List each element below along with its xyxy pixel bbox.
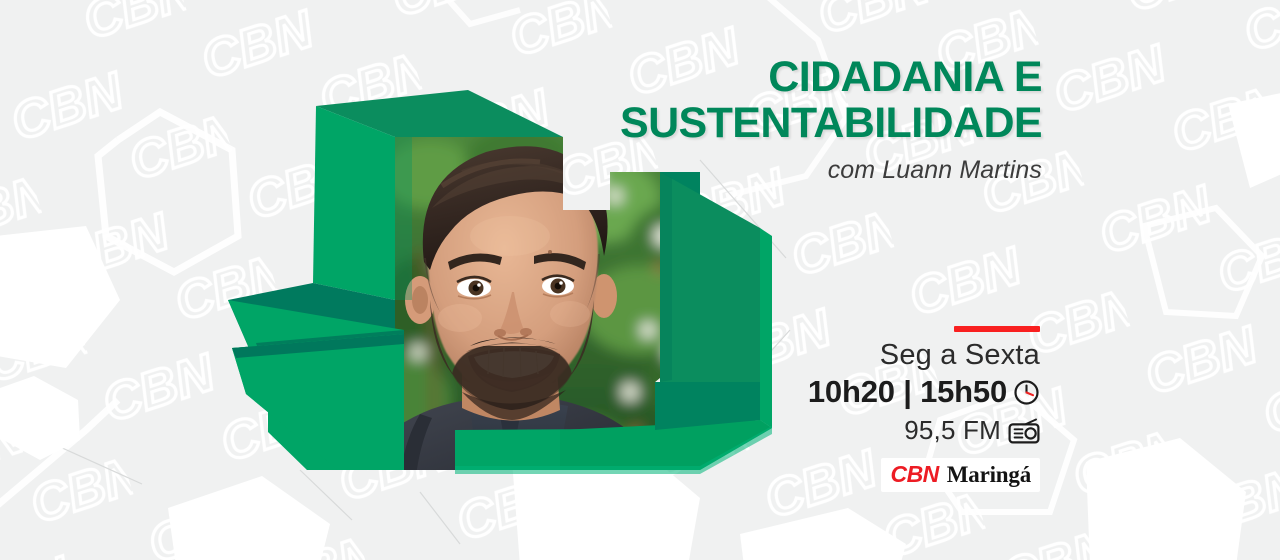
host-credit: com Luann Martins	[402, 156, 1042, 185]
broadcast-days: Seg a Sexta	[830, 340, 1040, 370]
clock-icon	[1013, 379, 1040, 406]
title-line-1: CIDADANIA E	[402, 56, 1042, 100]
frequency-row: 95,5 FM	[830, 415, 1040, 446]
cbn-brand-text: CBN	[890, 461, 938, 488]
frequency-label: 95,5 FM	[904, 415, 1001, 446]
station-logo-row: CBN Maringá	[830, 458, 1040, 492]
radio-program-banner: CBN CBN	[0, 0, 1280, 560]
program-title-block: CIDADANIA E SUSTENTABILIDADE com Luann M…	[402, 56, 1042, 185]
red-accent-rule	[954, 326, 1040, 332]
broadcast-times-row: 10h20 | 15h50	[830, 374, 1040, 410]
title-line-2: SUSTENTABILIDADE	[402, 102, 1042, 146]
schedule-info-block: Seg a Sexta 10h20 | 15h50 95,5 FM	[830, 326, 1040, 492]
radio-icon	[1008, 418, 1040, 444]
cbn-maringa-logo: CBN Maringá	[881, 458, 1040, 492]
station-city-text: Maringá	[947, 462, 1031, 488]
broadcast-times: 10h20 | 15h50	[808, 374, 1007, 410]
